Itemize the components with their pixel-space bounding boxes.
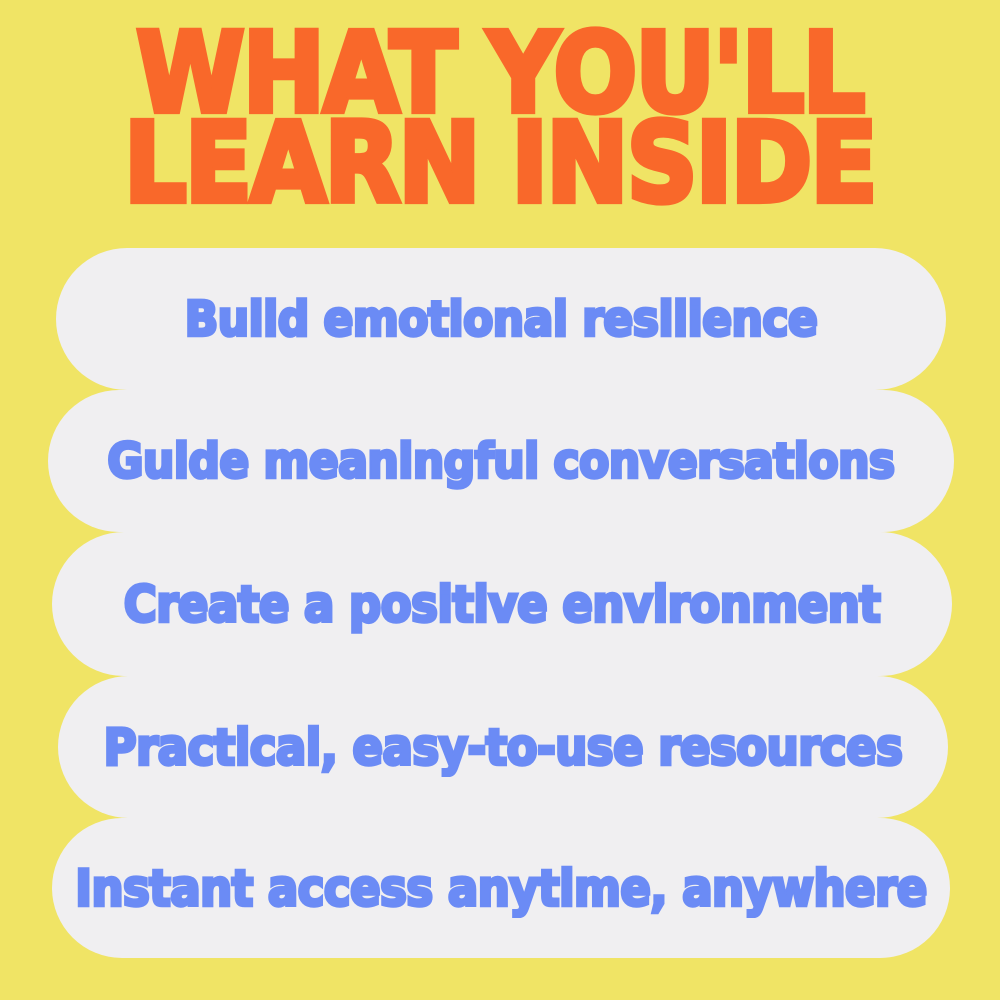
benefit-card-label: Guide meaningful conversations <box>107 433 894 489</box>
page-title: WHAT YOU'LL LEARN INSIDE <box>0 28 1000 198</box>
benefit-card-label: Instant access anytime, anywhere <box>75 859 927 917</box>
benefit-card-label: Practical, easy-to-use resources <box>104 718 903 776</box>
benefit-card-3[interactable]: Create a positive environment <box>52 532 952 676</box>
benefit-card-2[interactable]: Guide meaningful conversations <box>48 390 954 532</box>
benefit-card-stack: Build emotional resilience Guide meaning… <box>0 248 1000 948</box>
benefit-card-4[interactable]: Practical, easy-to-use resources <box>58 676 948 818</box>
benefit-card-5[interactable]: Instant access anytime, anywhere <box>52 818 950 958</box>
benefit-card-label: Build emotional resilience <box>185 291 818 347</box>
benefit-card-label: Create a positive environment <box>124 575 881 633</box>
benefit-card-1[interactable]: Build emotional resilience <box>56 248 946 390</box>
page-title-line-2: LEARN INSIDE <box>0 118 1000 210</box>
poster-canvas: WHAT YOU'LL LEARN INSIDE Build emotional… <box>0 0 1000 1000</box>
